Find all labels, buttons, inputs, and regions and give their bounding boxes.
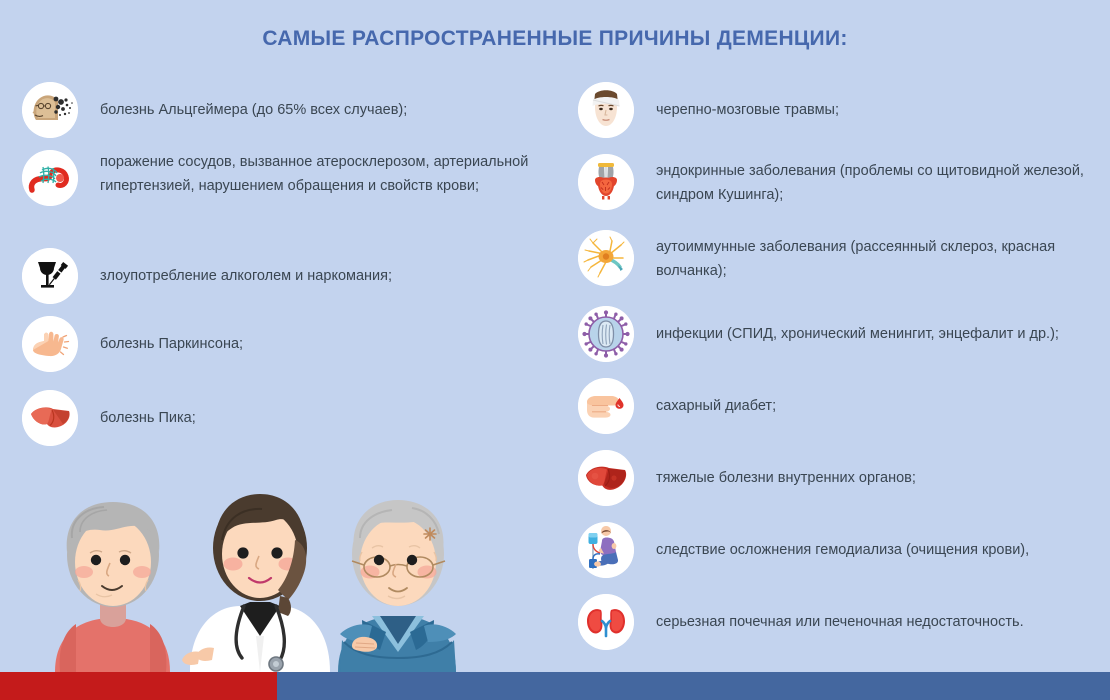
virus-icon (578, 306, 634, 362)
liver-organ-icon (578, 450, 634, 506)
female-doctor-figure (182, 494, 330, 672)
cause-label: поражение сосудов, вызванное атеросклеро… (100, 150, 542, 198)
cause-item-head-trauma: черепно-мозговые травмы; (578, 82, 839, 138)
cause-item-dialysis: следствие осложнения гемодиализа (очищен… (578, 522, 1029, 578)
cause-item-vascular: поражение сосудов, вызванное атеросклеро… (22, 150, 542, 206)
finger-blood-drop-icon (578, 378, 634, 434)
cause-label: инфекции (СПИД, хронический менингит, эн… (656, 306, 1059, 346)
head-bandage-injury-icon (578, 82, 634, 138)
cause-item-organ-disease: тяжелые болезни внутренних органов; (578, 450, 916, 506)
alcohol-glass-syringe-icon (22, 248, 78, 304)
cause-label: тяжелые болезни внутренних органов; (656, 450, 916, 490)
cause-item-parkinson: болезнь Паркинсона; (22, 316, 243, 372)
elderly-woman-figure (55, 502, 170, 672)
cause-item-autoimmune: аутоиммунные заболевания (рассеянный скл… (578, 230, 1098, 286)
cause-label: болезнь Альцгеймера (до 65% всех случаев… (100, 82, 407, 122)
dialysis-patient-icon (578, 522, 634, 578)
cause-item-renal-failure: серьезная почечная или печеночная недост… (578, 594, 1024, 650)
head-brain-dissolving-icon (22, 82, 78, 138)
infographic-poster: САМЫЕ РАСПРОСТРАНЕННЫЕ ПРИЧИНЫ ДЕМЕНЦИИ: (0, 0, 1110, 700)
elderly-couple-with-doctor-illustration (0, 420, 520, 672)
trembling-hand-icon (22, 316, 78, 372)
footer-bar (0, 672, 1110, 700)
cause-label: серьезная почечная или печеночная недост… (656, 594, 1024, 634)
cause-item-diabetes: сахарный диабет; (578, 378, 776, 434)
neuron-cell-icon (578, 230, 634, 286)
cause-item-alzheimer: болезнь Альцгеймера (до 65% всех случаев… (22, 82, 407, 138)
page-title: САМЫЕ РАСПРОСТРАНЕННЫЕ ПРИЧИНЫ ДЕМЕНЦИИ: (0, 26, 1110, 52)
cause-label: болезнь Паркинсона; (100, 316, 243, 356)
footer-bar-red (0, 672, 277, 700)
cause-label: эндокринные заболевания (проблемы со щит… (656, 154, 1098, 207)
footer-bar-blue (277, 672, 1110, 700)
cause-item-alcohol-drugs: злоупотребление алкоголем и наркомания; (22, 248, 392, 304)
cause-label: сахарный диабет; (656, 378, 776, 418)
cause-item-infections: инфекции (СПИД, хронический менингит, эн… (578, 306, 1059, 362)
elderly-man-figure (338, 500, 456, 672)
cause-label: черепно-мозговые травмы; (656, 82, 839, 122)
cause-label: злоупотребление алкоголем и наркомания; (100, 248, 392, 288)
cause-label: следствие осложнения гемодиализа (очищен… (656, 522, 1029, 562)
blood-vessels-icon (22, 150, 78, 206)
kidneys-icon (578, 594, 634, 650)
cause-item-endocrine: эндокринные заболевания (проблемы со щит… (578, 154, 1098, 210)
cause-label: аутоиммунные заболевания (рассеянный скл… (656, 230, 1098, 283)
thyroid-gland-icon (578, 154, 634, 210)
